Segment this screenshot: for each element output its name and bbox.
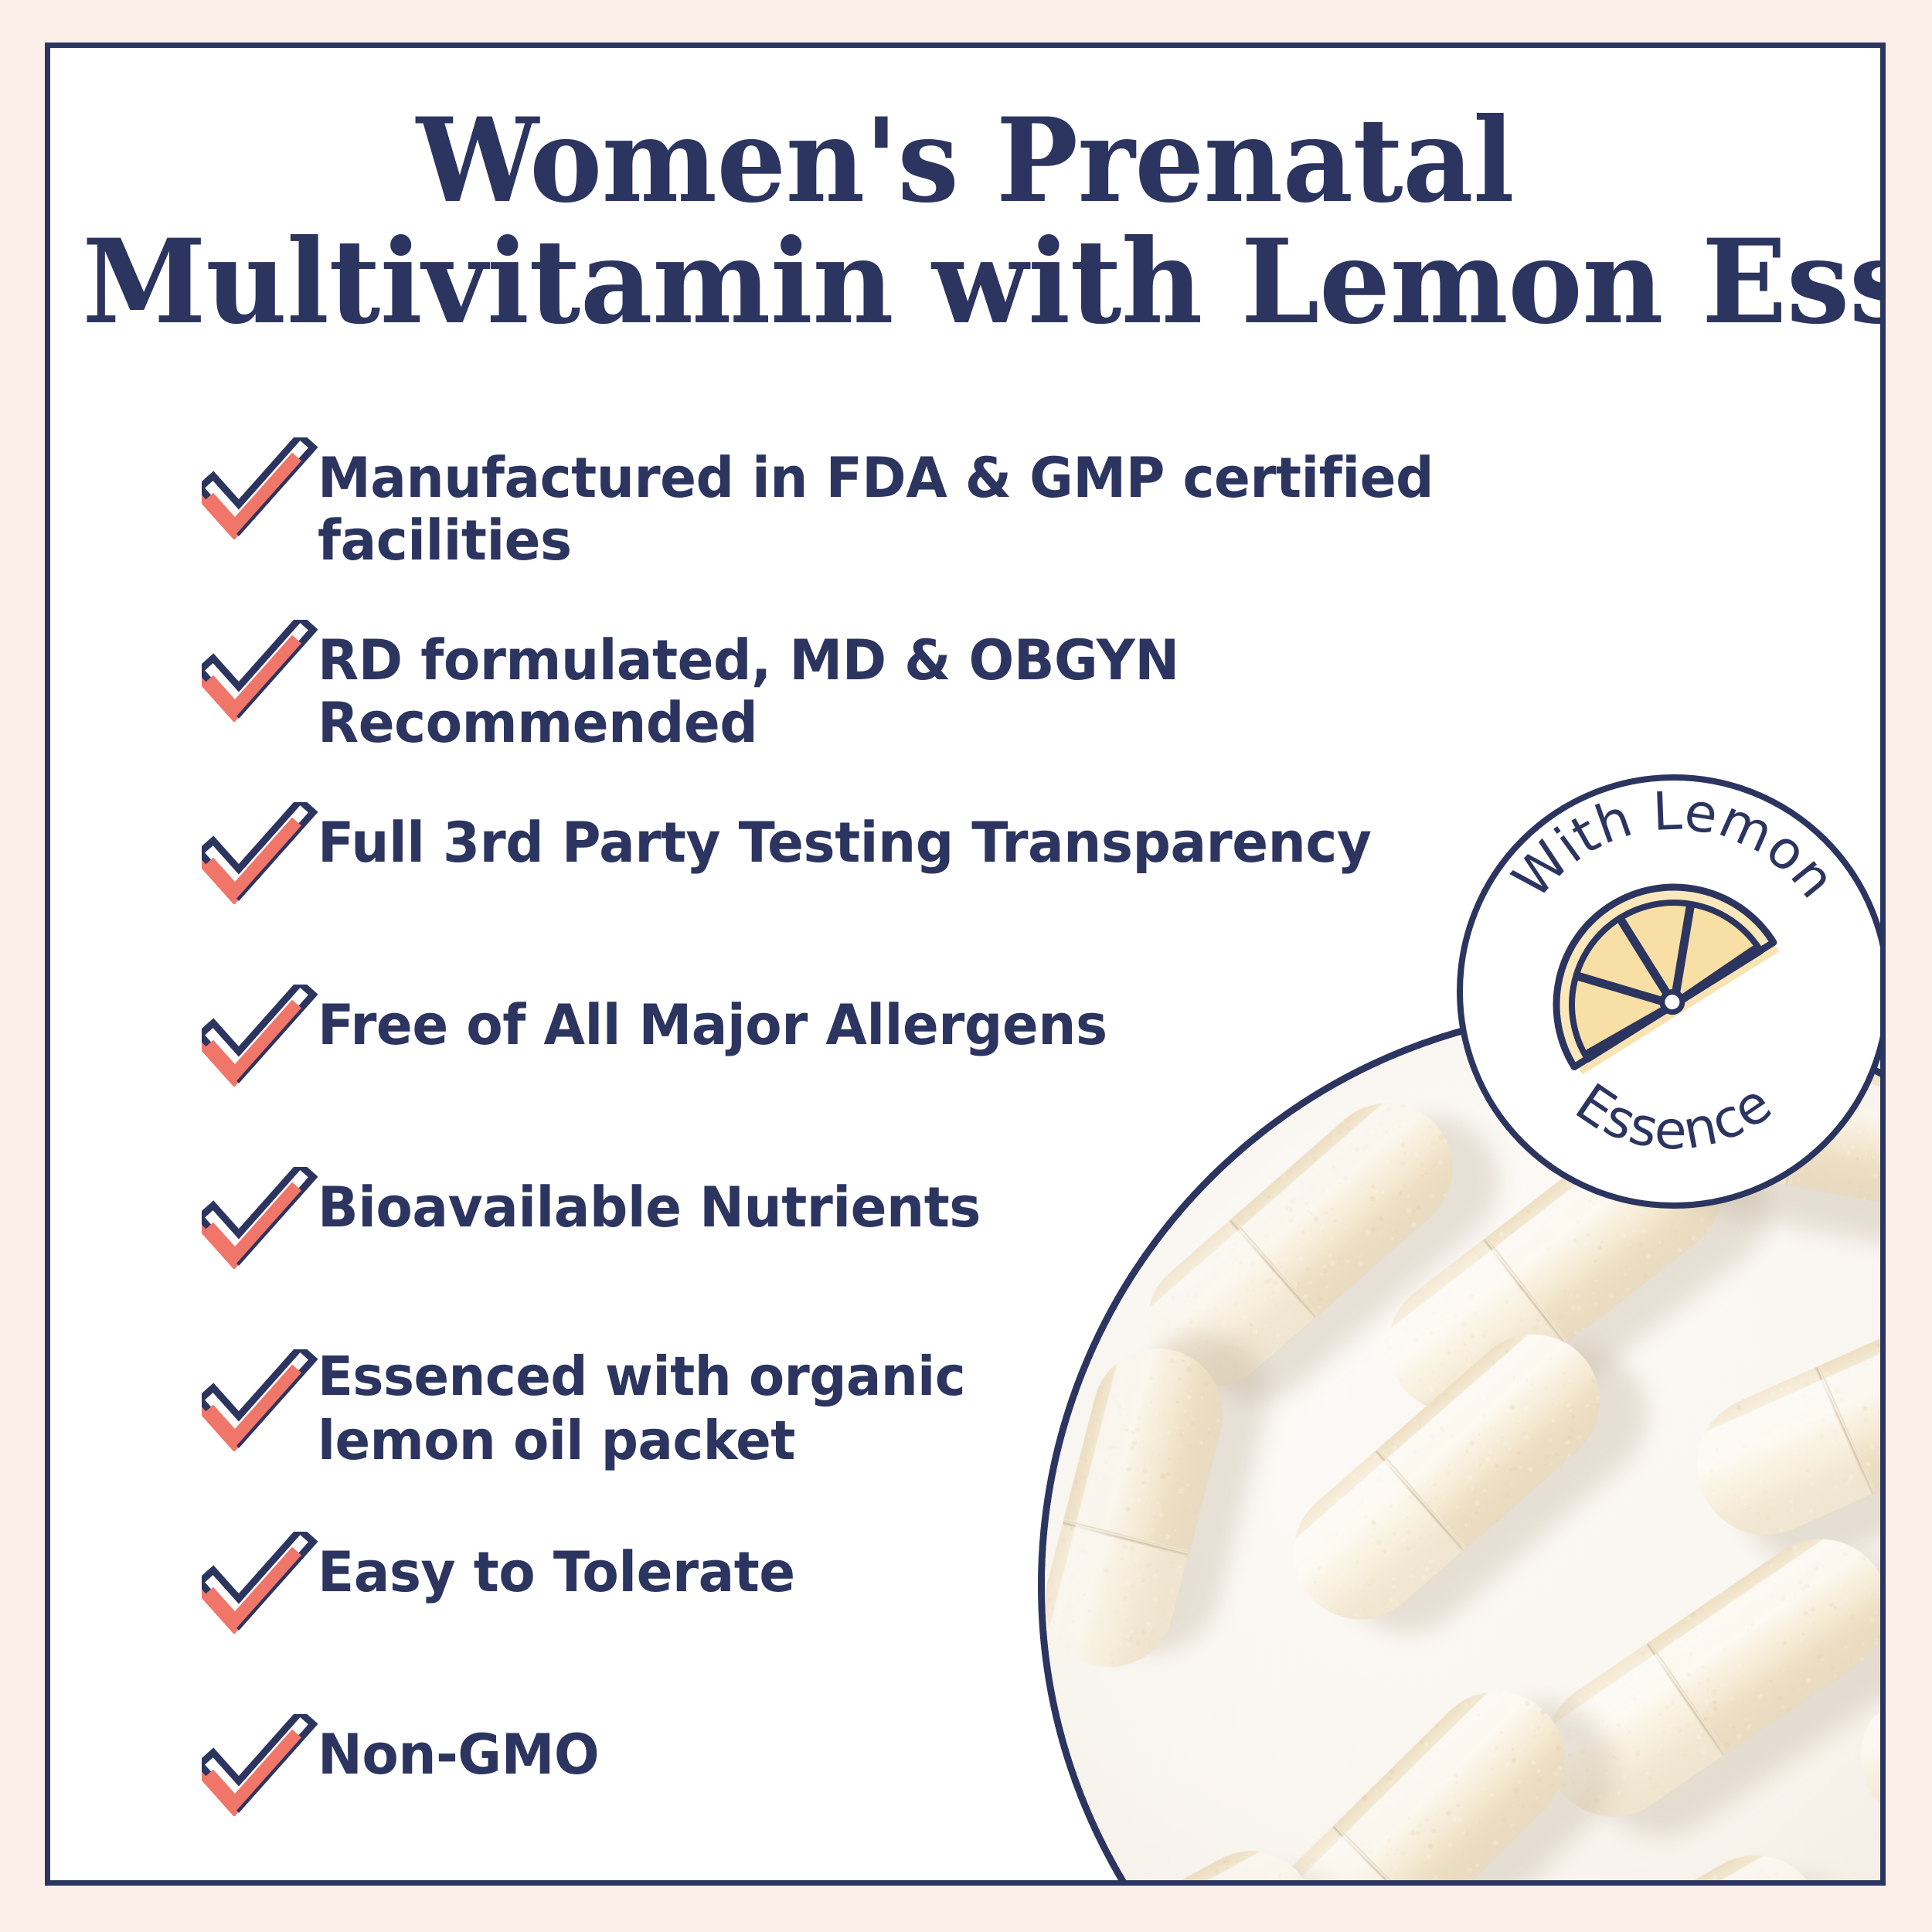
checkmark-icon xyxy=(202,437,318,538)
title-line-2: Multivitamin with Lemon Essence xyxy=(82,223,1848,342)
feature-item: Essenced with organic lemon oil packet xyxy=(202,1340,1670,1522)
page-title: Women's Prenatal Multivitamin with Lemon… xyxy=(50,102,1880,342)
feature-item: Bioavailable Nutrients xyxy=(202,1158,1670,1340)
checkmark-icon xyxy=(202,1532,318,1632)
feature-item: Easy to Tolerate xyxy=(202,1522,1670,1705)
product-info-card: Women's Prenatal Multivitamin with Lemon… xyxy=(45,43,1886,1886)
feature-item-label: Easy to Tolerate xyxy=(318,1522,795,1604)
feature-item: Non-GMO xyxy=(202,1705,1670,1886)
feature-item-label: Bioavailable Nutrients xyxy=(318,1158,981,1239)
with-lemon-essence-badge: With Lemon Essence xyxy=(1455,773,1886,1210)
feature-item-label: RD formulated, MD & OBGYN Recommended xyxy=(318,611,1616,753)
feature-item: Full 3rd Party Testing Transparency xyxy=(202,793,1670,975)
feature-item-label: Essenced with organic lemon oil packet xyxy=(318,1340,965,1472)
checkmark-icon xyxy=(202,985,318,1085)
feature-list: Manufactured in FDA & GMP certified faci… xyxy=(202,428,1670,1886)
checkmark-icon xyxy=(202,1349,318,1450)
feature-item-label: Manufactured in FDA & GMP certified faci… xyxy=(318,428,1616,571)
feature-item: RD formulated, MD & OBGYN Recommended xyxy=(202,611,1670,793)
checkmark-icon xyxy=(202,802,318,903)
title-line-1: Women's Prenatal xyxy=(105,102,1825,220)
feature-item-label: Full 3rd Party Testing Transparency xyxy=(318,793,1371,874)
feature-item-label: Free of All Major Allergens xyxy=(318,975,1107,1056)
checkmark-icon xyxy=(202,1167,318,1267)
badge-svg: With Lemon Essence xyxy=(1455,773,1886,1210)
feature-item-label: Non-GMO xyxy=(318,1705,599,1786)
checkmark-icon xyxy=(202,1714,318,1815)
checkmark-icon xyxy=(202,620,318,720)
feature-item: Manufactured in FDA & GMP certified faci… xyxy=(202,428,1670,611)
feature-item: Free of All Major Allergens xyxy=(202,975,1670,1158)
